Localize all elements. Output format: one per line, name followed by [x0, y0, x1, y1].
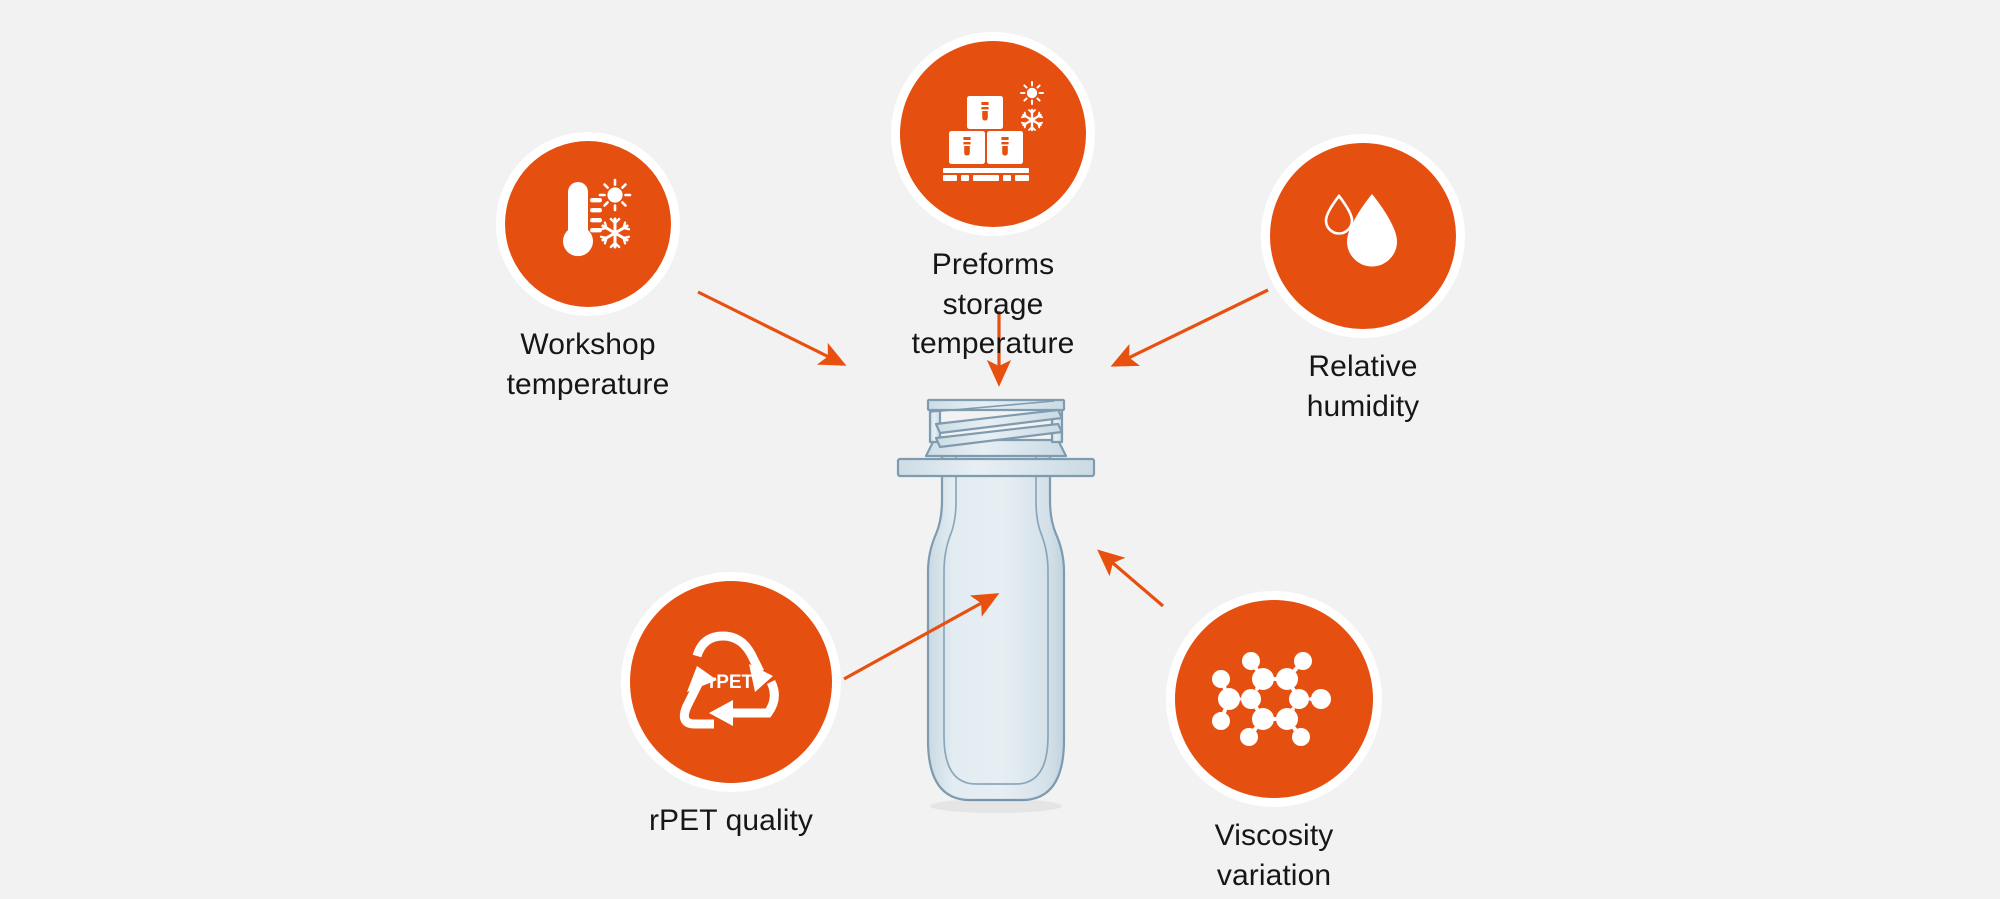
- diagram-canvas: Workshop temperature: [0, 0, 2000, 894]
- arrow-rpet-to-preform: [844, 595, 996, 679]
- preforms-storage-temperature-label: Preforms storage temperature: [900, 245, 1086, 364]
- factor-preforms-storage-temperature[interactable]: Preforms storage temperature: [900, 41, 1086, 364]
- water-droplets-icon: [1309, 182, 1417, 290]
- molecule-icon: [1211, 643, 1337, 755]
- factor-workshop-temperature[interactable]: Workshop temperature: [505, 141, 671, 404]
- rpet-quality-bubble[interactable]: rPET: [630, 581, 832, 783]
- workshop-temperature-label: Workshop temperature: [507, 325, 670, 404]
- rpet-quality-label: rPET quality: [649, 801, 813, 841]
- recycling-rpet-icon: rPET: [667, 618, 795, 746]
- arrow-humidity-to-preform: [1114, 290, 1268, 365]
- viscosity-variation-label: Viscosity variation: [1175, 816, 1373, 895]
- relative-humidity-bubble[interactable]: [1270, 143, 1456, 329]
- boxes-on-pallet-sun-snowflake-icon: [937, 78, 1049, 190]
- arrow-viscosity-to-preform: [1100, 552, 1163, 606]
- relative-humidity-label: Relative humidity: [1270, 347, 1456, 426]
- viscosity-variation-bubble[interactable]: [1175, 600, 1373, 798]
- thermometer-sun-snowflake-icon: [536, 172, 640, 276]
- preforms-storage-temperature-bubble[interactable]: [900, 41, 1086, 227]
- factor-relative-humidity[interactable]: Relative humidity: [1270, 143, 1456, 426]
- factor-rpet-quality[interactable]: rPET rPET quality: [630, 581, 832, 841]
- rpet-icon-text: rPET: [709, 672, 754, 693]
- factor-viscosity-variation[interactable]: Viscosity variation: [1175, 600, 1373, 895]
- workshop-temperature-bubble[interactable]: [505, 141, 671, 307]
- arrow-workshop-to-preform: [698, 292, 843, 364]
